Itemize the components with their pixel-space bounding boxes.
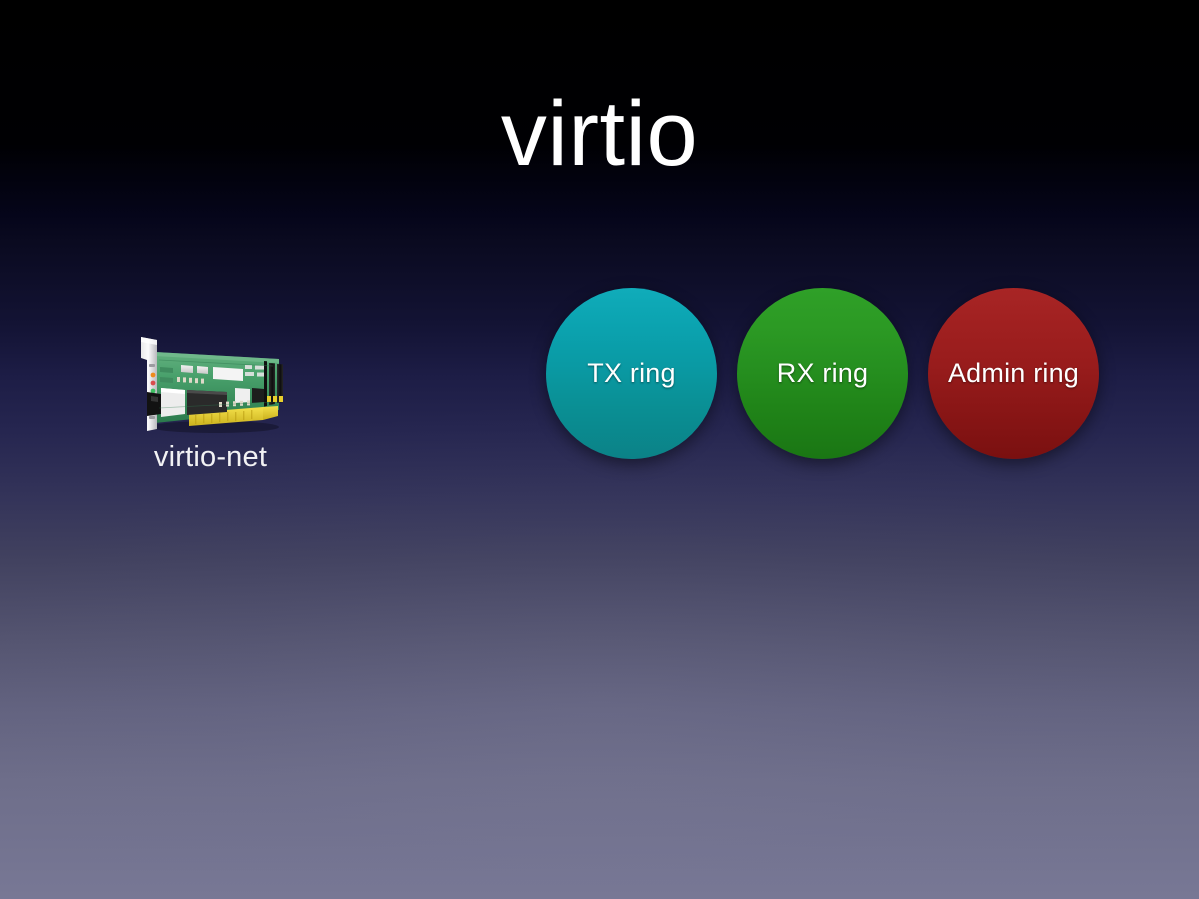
admin-ring-label: Admin ring — [948, 358, 1079, 389]
page-title: virtio — [0, 88, 1199, 180]
network-interface-card-icon — [123, 330, 298, 435]
virtio-net-device-group: virtio-net — [118, 330, 303, 474]
rx-ring-circle: RX ring — [737, 288, 908, 459]
tx-ring-circle: TX ring — [546, 288, 717, 459]
virtio-net-label: virtio-net — [118, 441, 303, 474]
rx-ring-label: RX ring — [777, 358, 868, 389]
presentation-slide: virtio — [0, 0, 1199, 899]
admin-ring-circle: Admin ring — [928, 288, 1099, 459]
tx-ring-label: TX ring — [587, 358, 675, 389]
